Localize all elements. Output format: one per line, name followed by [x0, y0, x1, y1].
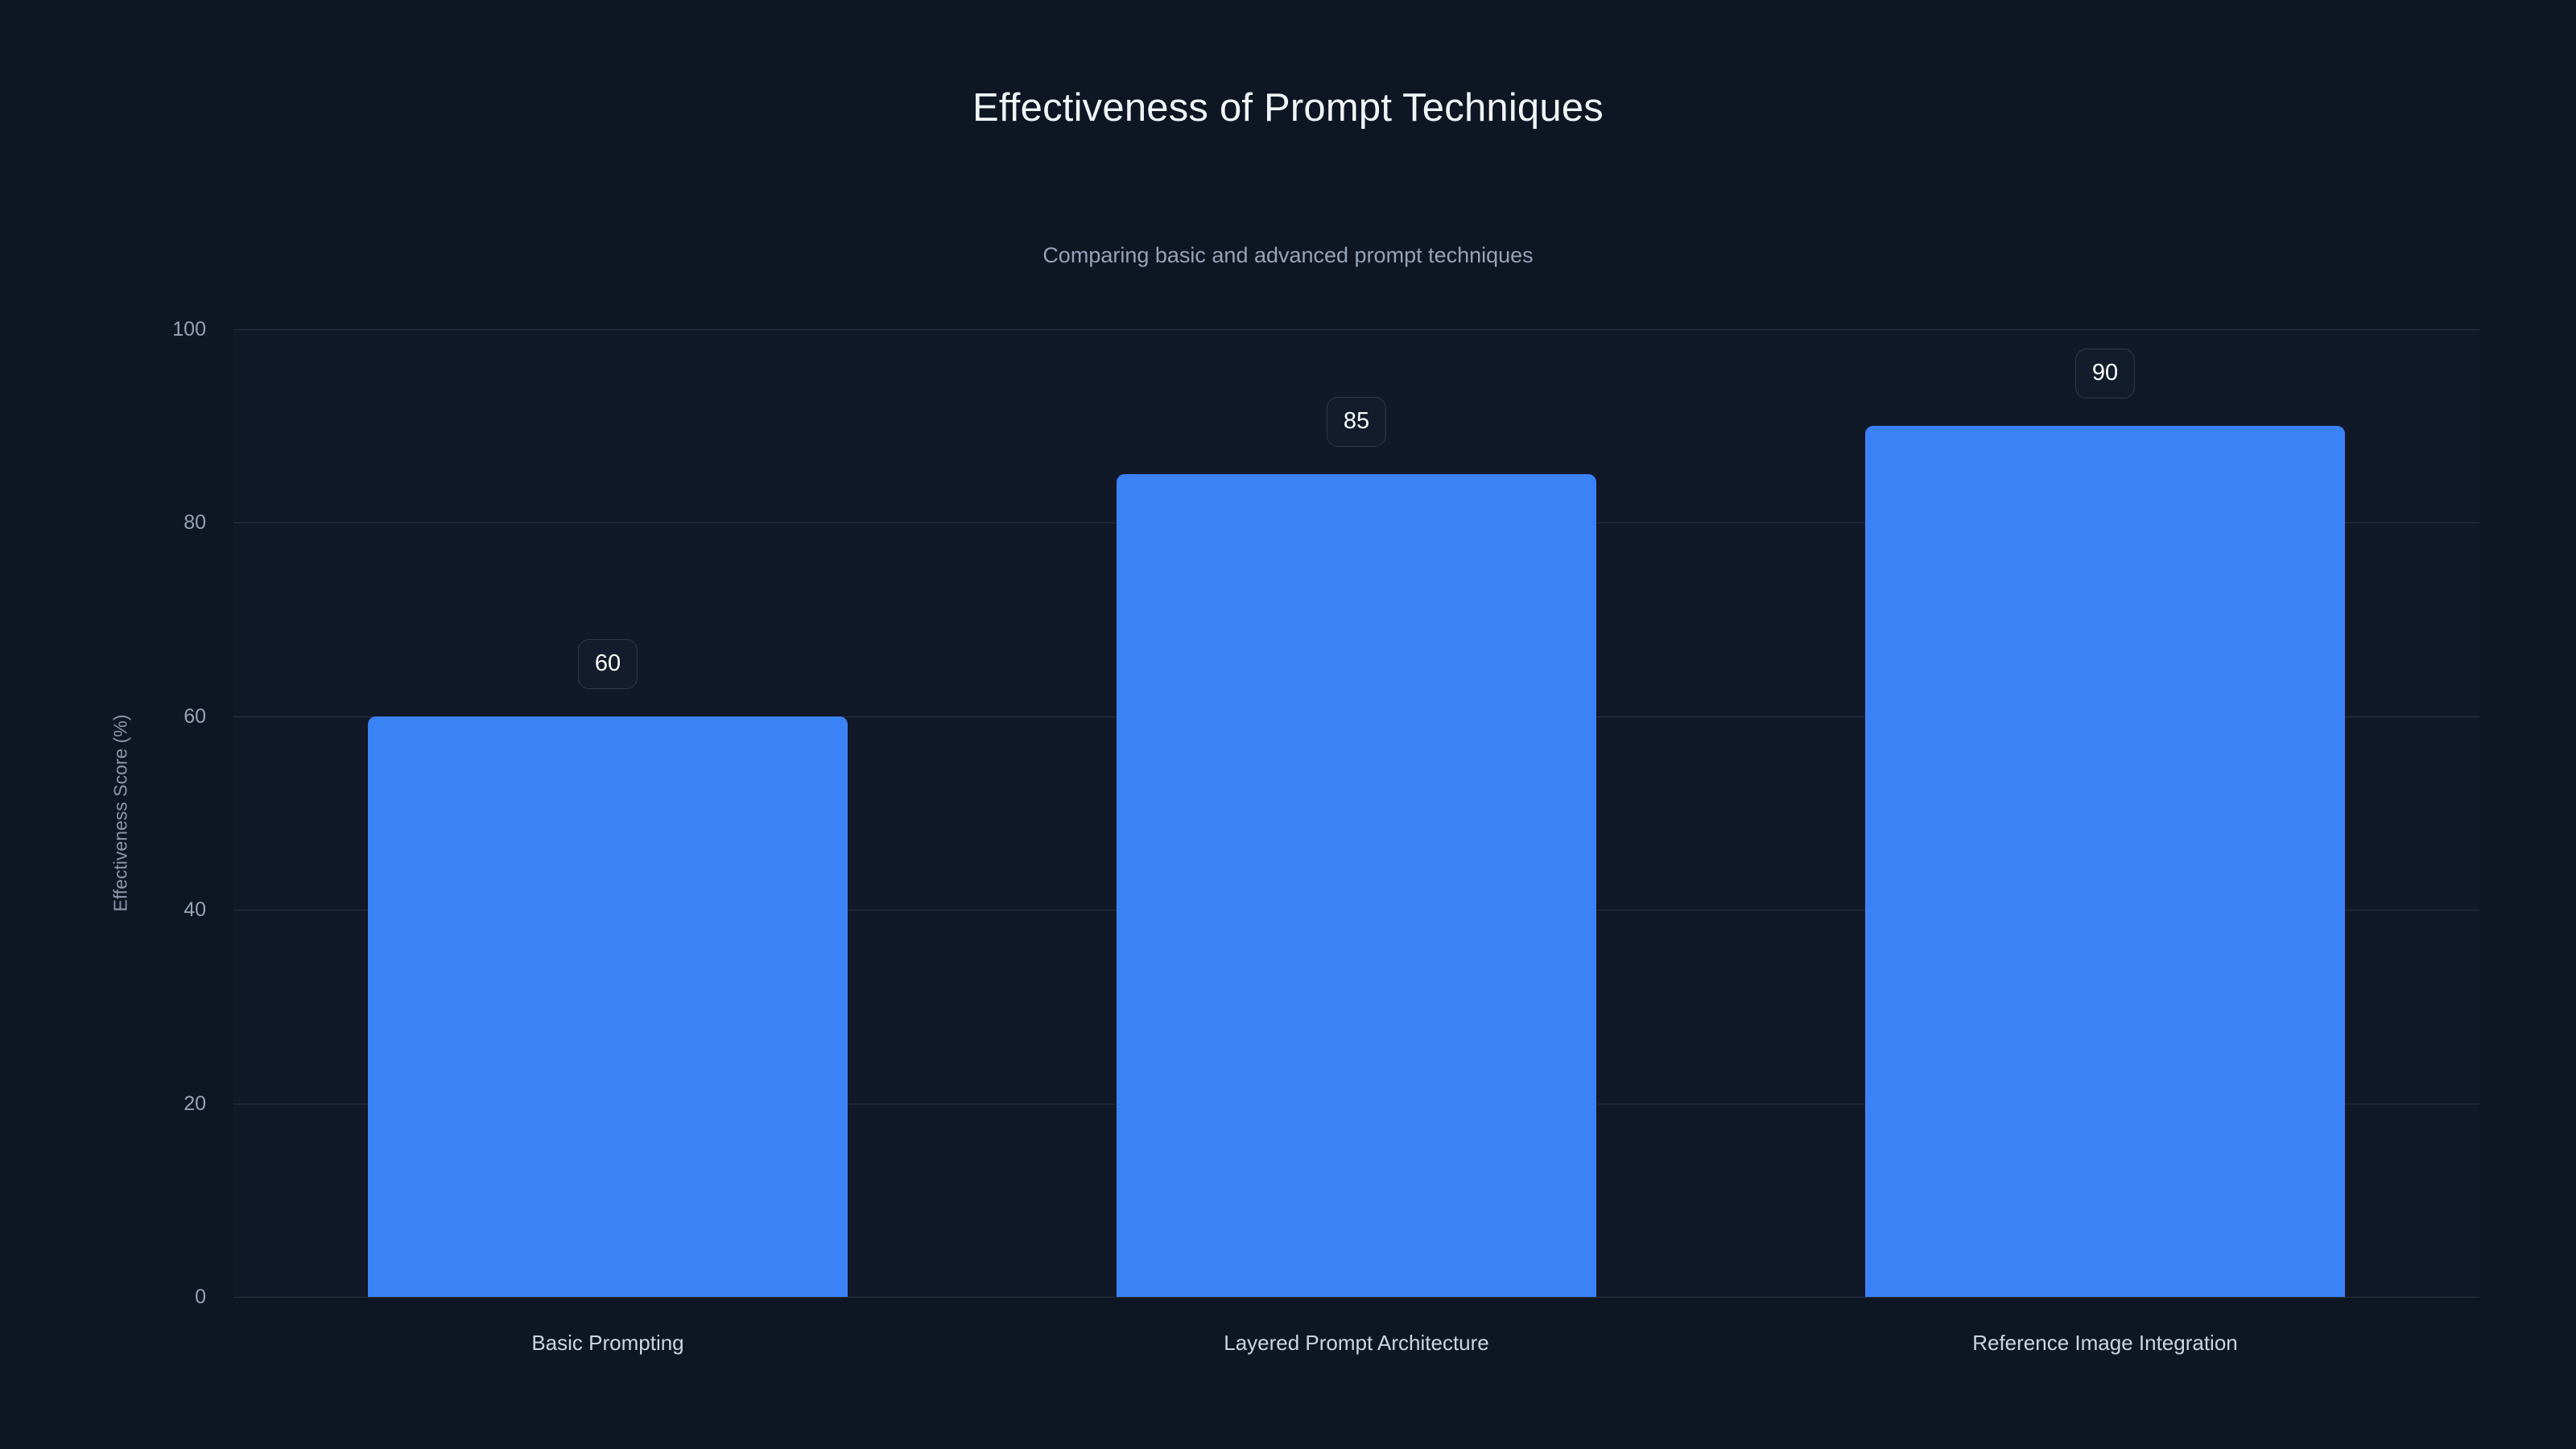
bar[interactable]	[1117, 474, 1596, 1297]
x-axis-tick-label: Layered Prompt Architecture	[982, 1330, 1731, 1356]
bar[interactable]	[368, 716, 848, 1297]
y-axis-tick-label: 60	[145, 707, 206, 727]
bar-value-label: 60	[578, 639, 638, 689]
bar-value-label: 90	[2075, 349, 2135, 398]
gridline	[233, 329, 2479, 330]
bar-value-label: 85	[1327, 397, 1386, 447]
chart-subtitle: Comparing basic and advanced prompt tech…	[0, 242, 2576, 269]
gridline	[233, 1297, 2479, 1298]
chart-title: Effectiveness of Prompt Techniques	[0, 84, 2576, 132]
y-axis-tick-label: 100	[145, 320, 206, 340]
bar-chart: Effectiveness of Prompt Techniques Compa…	[0, 0, 2576, 1449]
y-axis-tick-label: 0	[145, 1287, 206, 1307]
y-axis-tick-label: 20	[145, 1094, 206, 1114]
x-axis-tick-label: Reference Image Integration	[1731, 1330, 2479, 1356]
y-axis-title: Effectiveness Score (%)	[110, 714, 132, 911]
bar[interactable]	[1865, 426, 2345, 1297]
x-axis-tick-label: Basic Prompting	[233, 1330, 982, 1356]
y-axis-tick-label: 80	[145, 513, 206, 533]
plot-area	[233, 329, 2479, 1297]
y-axis-tick-label: 40	[145, 900, 206, 920]
